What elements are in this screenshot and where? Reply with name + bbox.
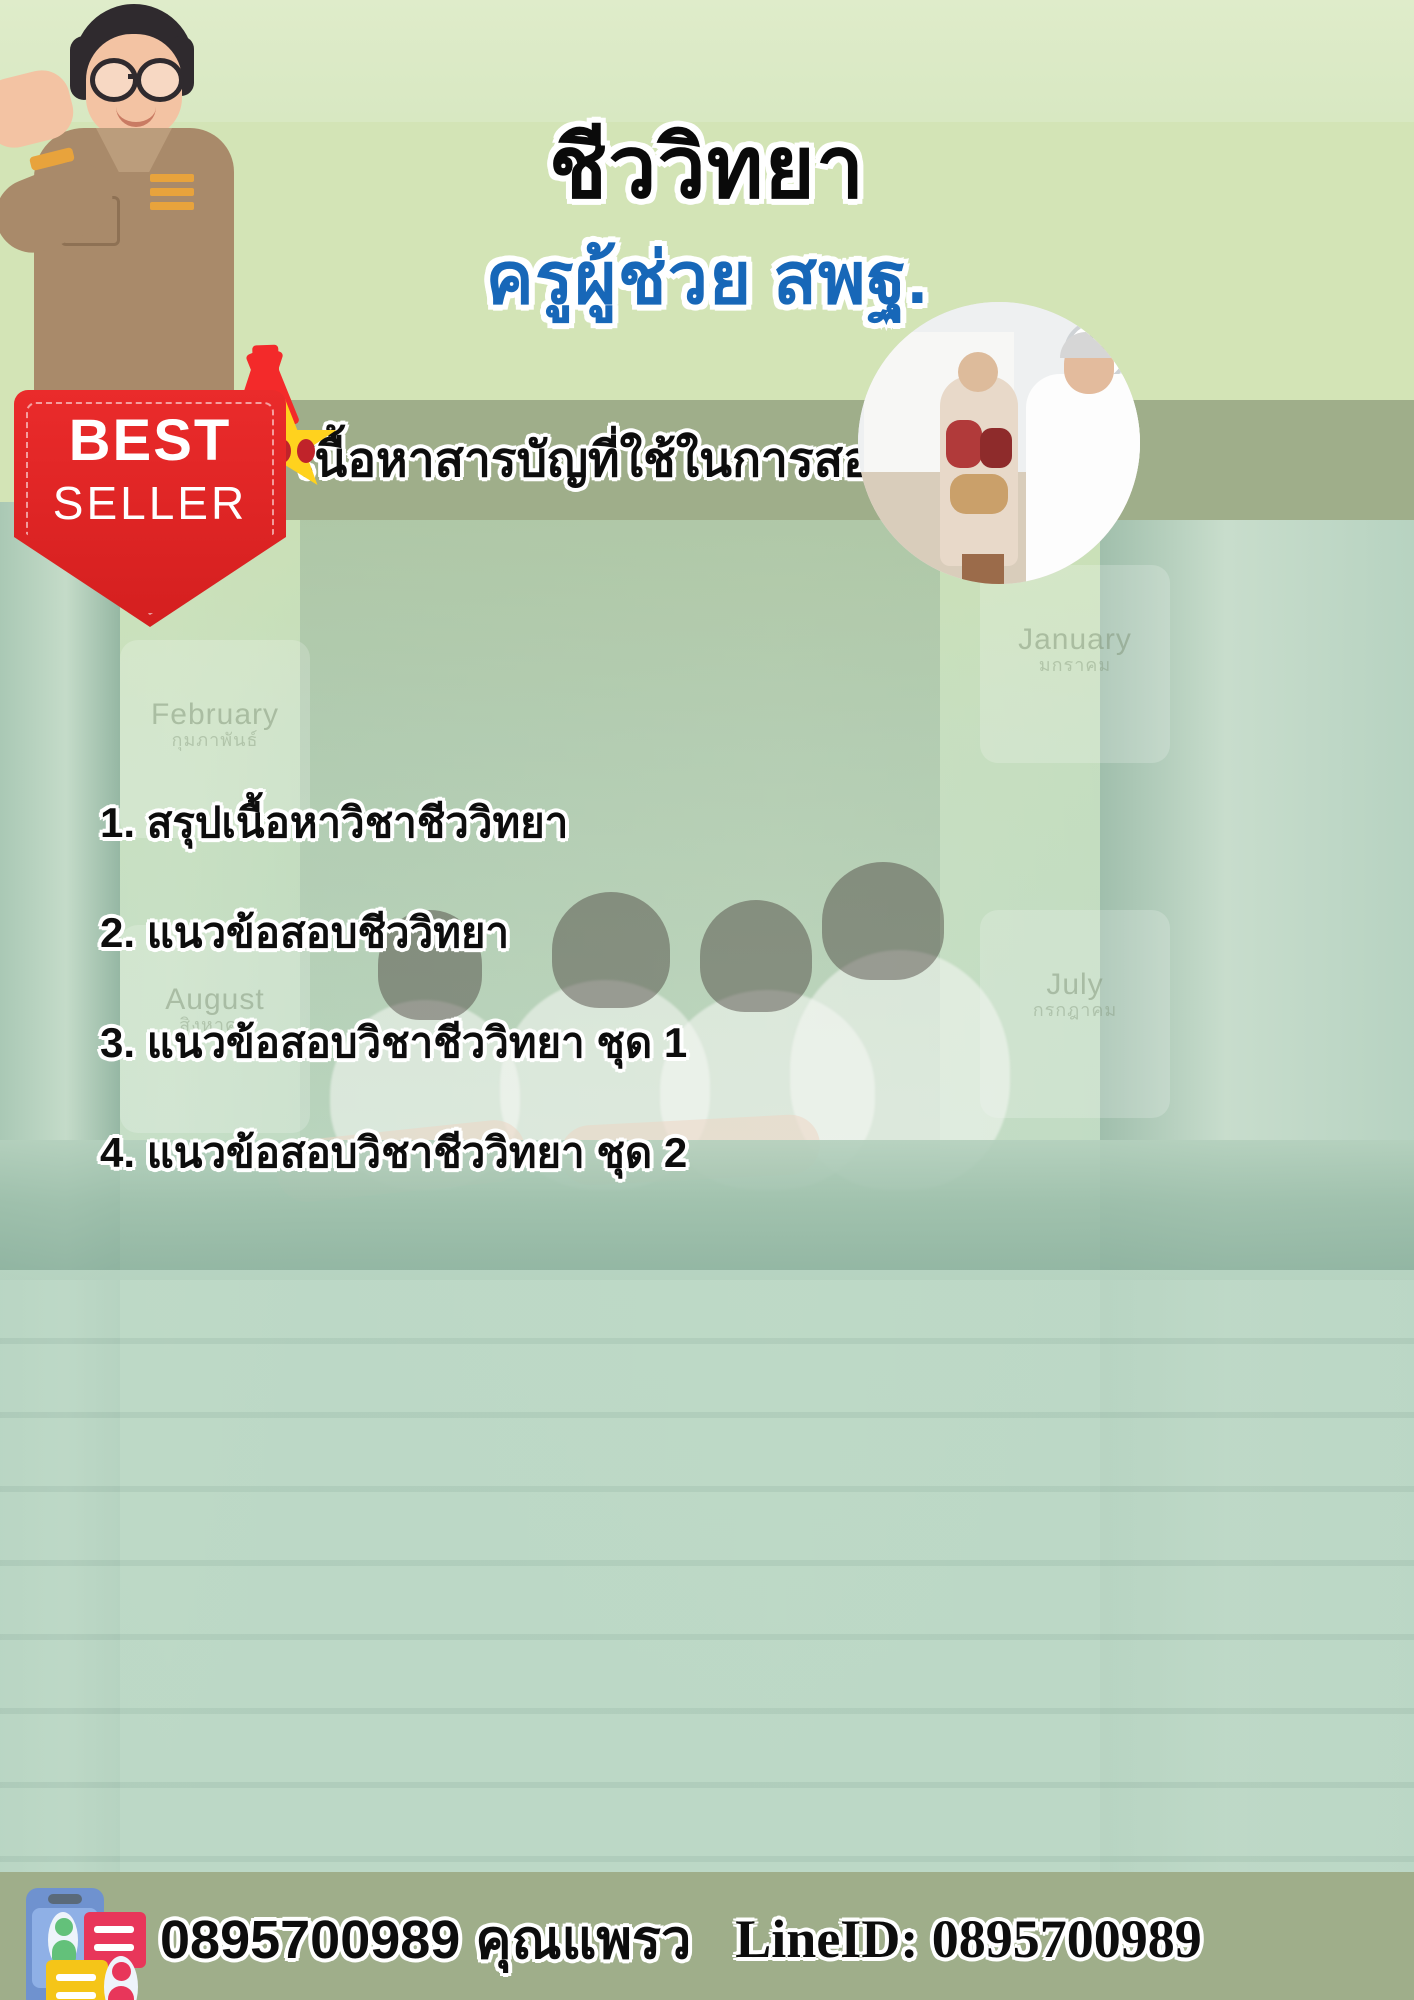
list-item: 2. แนวข้อสอบชีววิทยา [100,900,1200,966]
line-id[interactable]: LineID: 0895700989 [735,1908,1202,1970]
anatomy-torso-model [940,376,1018,566]
page-subtitle: ครูผู้ช่วย สพฐ. [0,238,1414,321]
calendar-month-label: February [151,698,279,731]
organ-intestine [950,474,1008,514]
burst-dot-3 [297,439,315,463]
phone-speaker [48,1894,82,1904]
page-title: ชีววิทยา [0,120,1414,216]
calendar-month-label: January [1018,623,1132,656]
contact-card-yellow [46,1960,108,2000]
list-item: 1. สรุปเนื้อหาวิชาชีววิทยา [100,790,1200,856]
calendar-card-january: January มกราคม [980,565,1170,763]
phone-number[interactable]: 0895700989 คุณแพรว [160,1896,691,1982]
model-stand [962,554,1004,584]
title-block: ชีววิทยา ครูผู้ช่วย สพฐ. [0,120,1414,321]
contact-avatar-pink-head [112,1962,131,1981]
glasses-icon-right [136,58,184,102]
wooden-floor [0,1270,1414,1910]
anatomy-model-photo [858,302,1140,584]
contact-avatar-green-head [55,1918,73,1936]
lab-coat [1026,374,1140,584]
list-item: 4. แนวข้อสอบวิชาชีววิทยา ชุด 2 [100,1120,1200,1186]
poster-root: January มกราคม February กุมภาพันธ์ Augus… [0,0,1414,2000]
list-item: 3. แนวข้อสอบวิชาชีววิทยา ชุด 1 [100,1010,1200,1076]
contents-list: 1. สรุปเนื้อหาวิชาชีววิทยา 2. แนวข้อสอบช… [100,790,1200,1230]
section-banner: เนื้อหาสารบัญที่ใช้ในการสอบ ดังนี้ [274,400,1414,520]
contact-info: 0895700989 คุณแพรว LineID: 0895700989 [160,1884,1400,1994]
glasses-icon-left [90,58,138,102]
contact-avatar-green-body [52,1940,76,1962]
glasses-bridge [128,74,138,79]
organ-lung-left [946,420,982,468]
calendar-month-thai: กุมภาพันธ์ [120,731,310,751]
anatomy-model-head [958,352,998,392]
calendar-month-thai: มกราคม [980,656,1170,676]
organ-lung-right [980,428,1012,468]
